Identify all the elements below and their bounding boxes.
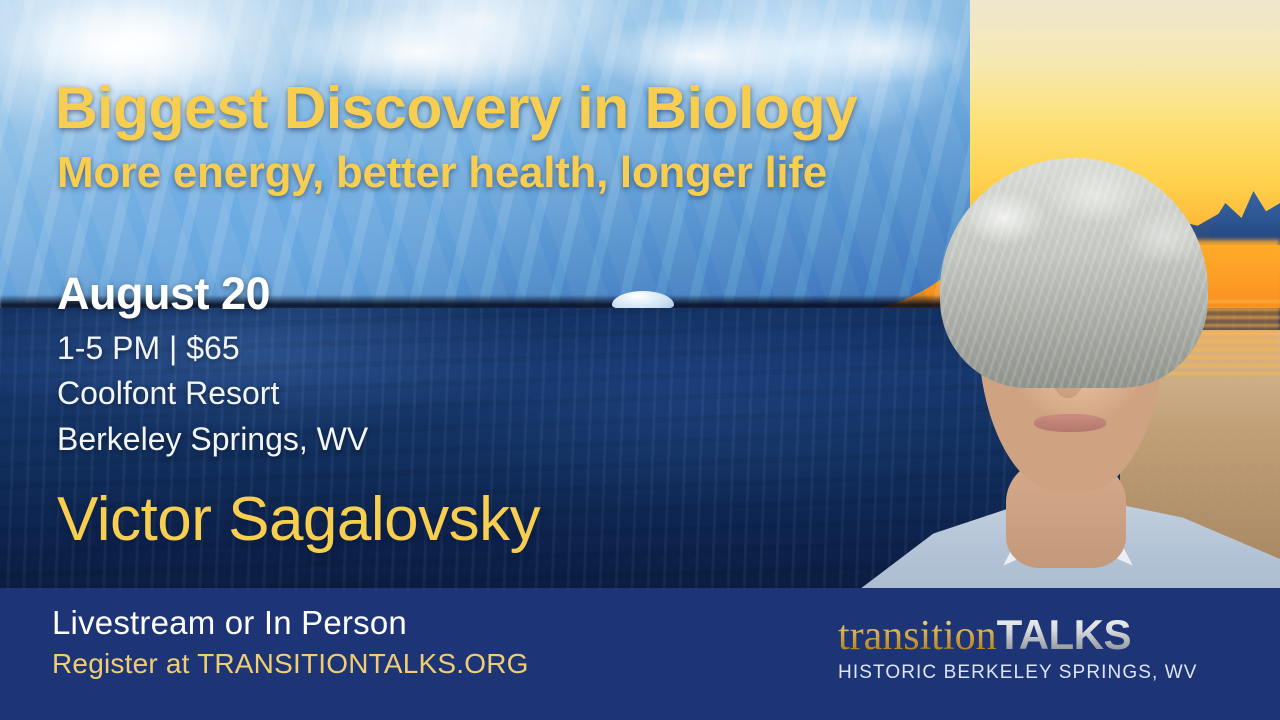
event-details: 1-5 PM | $65 Coolfont Resort Berkeley Sp… — [57, 326, 617, 462]
logo-wordmark: transitionTALKS — [838, 614, 1238, 657]
footer-bar: Livestream or In Person Register at TRAN… — [0, 588, 1280, 720]
attendance-line: Livestream or In Person — [52, 604, 407, 642]
speaker-name: Victor Sagalovsky — [57, 484, 540, 555]
headline: Biggest Discovery in Biology — [55, 78, 955, 139]
mouth — [1034, 414, 1106, 432]
event-date: August 20 — [57, 268, 270, 320]
event-venue: Coolfont Resort — [57, 371, 617, 416]
logo-tagline: HISTORIC BERKELEY SPRINGS, WV — [838, 662, 1238, 684]
logo-word-talks: TALKS — [997, 611, 1131, 658]
transitiontalks-logo[interactable]: transitionTALKS HISTORIC BERKELEY SPRING… — [838, 614, 1238, 684]
event-city-state: Berkeley Springs, WV — [57, 417, 617, 462]
event-poster: Biggest Discovery in Biology More energy… — [0, 0, 1280, 720]
register-line[interactable]: Register at TRANSITIONTALKS.ORG — [52, 648, 529, 680]
hair — [940, 158, 1208, 388]
subheadline: More energy, better health, longer life — [57, 150, 957, 196]
event-time-price: 1-5 PM | $65 — [57, 326, 617, 371]
logo-word-transition: transition — [838, 613, 997, 659]
